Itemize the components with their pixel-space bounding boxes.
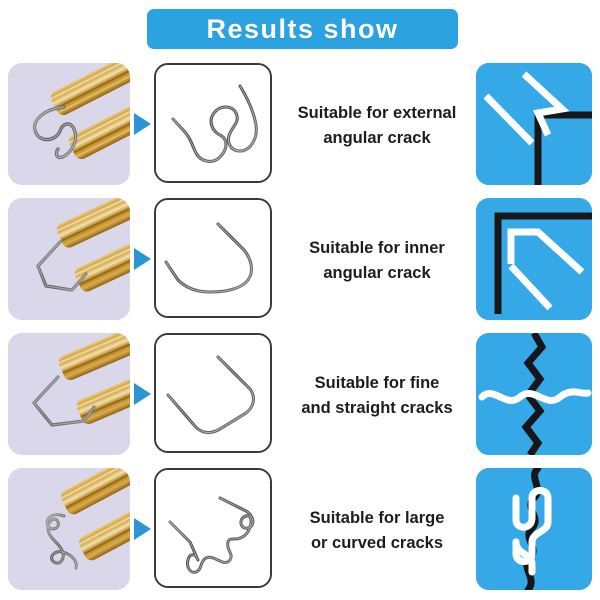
arrow-right-triangle-icon — [134, 248, 151, 270]
rows-container: Suitable for external angular crack — [0, 58, 600, 600]
arrow-right-triangle-icon — [134, 518, 151, 540]
caption-line: Suitable for inner — [309, 236, 445, 261]
caption-line: and straight cracks — [301, 396, 452, 421]
large-curved-crack-icon — [476, 468, 592, 590]
caption-large-curved: Suitable for large or curved cracks — [284, 463, 470, 598]
staple-diagram-wave — [154, 63, 272, 183]
staple-diagram-flat-u — [154, 333, 272, 453]
title-banner: Results show — [147, 9, 458, 49]
caption-inner-angular: Suitable for inner angular crack — [284, 193, 470, 328]
caption-line: Suitable for fine — [315, 371, 440, 396]
page-title: Results show — [206, 14, 398, 45]
inner-angular-crack-icon — [476, 198, 592, 320]
fine-straight-crack-icon — [476, 333, 592, 455]
results-show-infographic: Results show — [0, 0, 600, 600]
caption-external-angular: Suitable for external angular crack — [284, 58, 470, 193]
caption-line: or curved cracks — [311, 531, 443, 556]
row-inner-angular: Suitable for inner angular crack — [0, 193, 600, 328]
caption-line: angular crack — [323, 261, 430, 286]
staple-diagram-serpentine — [154, 468, 272, 588]
product-photo-fine-straight — [8, 333, 130, 455]
product-photo-large-curved — [8, 468, 130, 590]
row-fine-straight: Suitable for fine and straight cracks — [0, 328, 600, 463]
staple-diagram-v-shape — [154, 198, 272, 318]
arrow-right-triangle-icon — [134, 383, 151, 405]
caption-fine-straight: Suitable for fine and straight cracks — [284, 328, 470, 463]
arrow-right-triangle-icon — [134, 113, 151, 135]
external-angular-crack-icon — [476, 63, 592, 185]
row-large-curved: Suitable for large or curved cracks — [0, 463, 600, 598]
caption-line: Suitable for external — [298, 101, 457, 126]
caption-line: Suitable for large — [310, 506, 445, 531]
row-external-angular: Suitable for external angular crack — [0, 58, 600, 193]
product-photo-inner-angular — [8, 198, 130, 320]
caption-line: angular crack — [323, 126, 430, 151]
product-photo-external-angular — [8, 63, 130, 185]
